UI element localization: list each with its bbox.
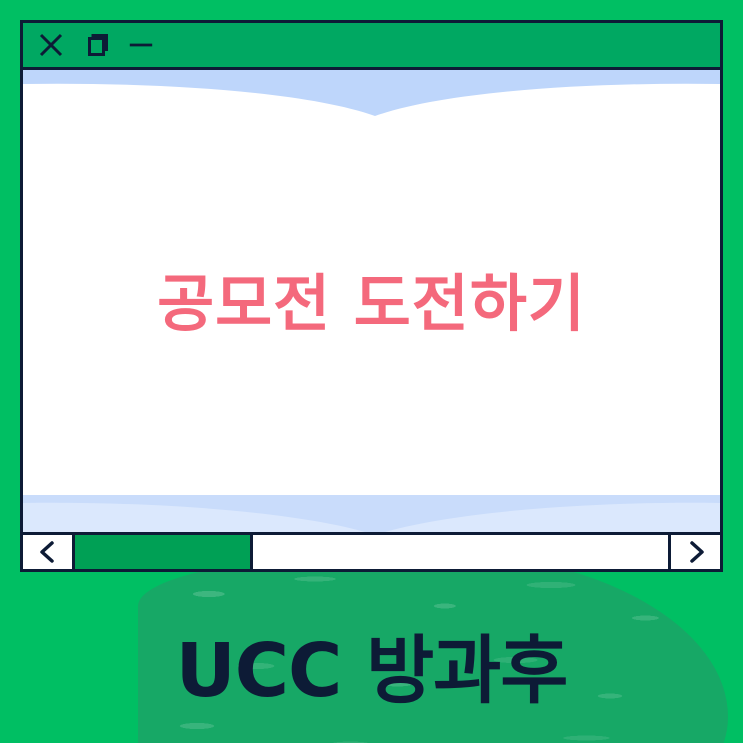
book-page-area: 공모전 도전하기 [23, 70, 720, 569]
poster-caption: UCC 방과후 [0, 611, 743, 718]
prev-button[interactable] [20, 532, 75, 572]
book-top-page-edges [23, 70, 720, 132]
restore-icon[interactable] [82, 31, 110, 59]
minimize-icon[interactable] [127, 31, 155, 59]
page-headline: 공모전 도전하기 [23, 253, 720, 343]
close-icon[interactable] [37, 31, 65, 59]
window-titlebar [23, 23, 720, 70]
app-window: 공모전 도전하기 [20, 20, 723, 572]
next-button[interactable] [668, 532, 723, 572]
progress-bar-fill [75, 535, 253, 569]
progress-bar[interactable] [75, 532, 668, 572]
poster-canvas: 공모전 도전하기 UCC 방과후 [0, 0, 743, 743]
navigation-bar [20, 532, 723, 572]
